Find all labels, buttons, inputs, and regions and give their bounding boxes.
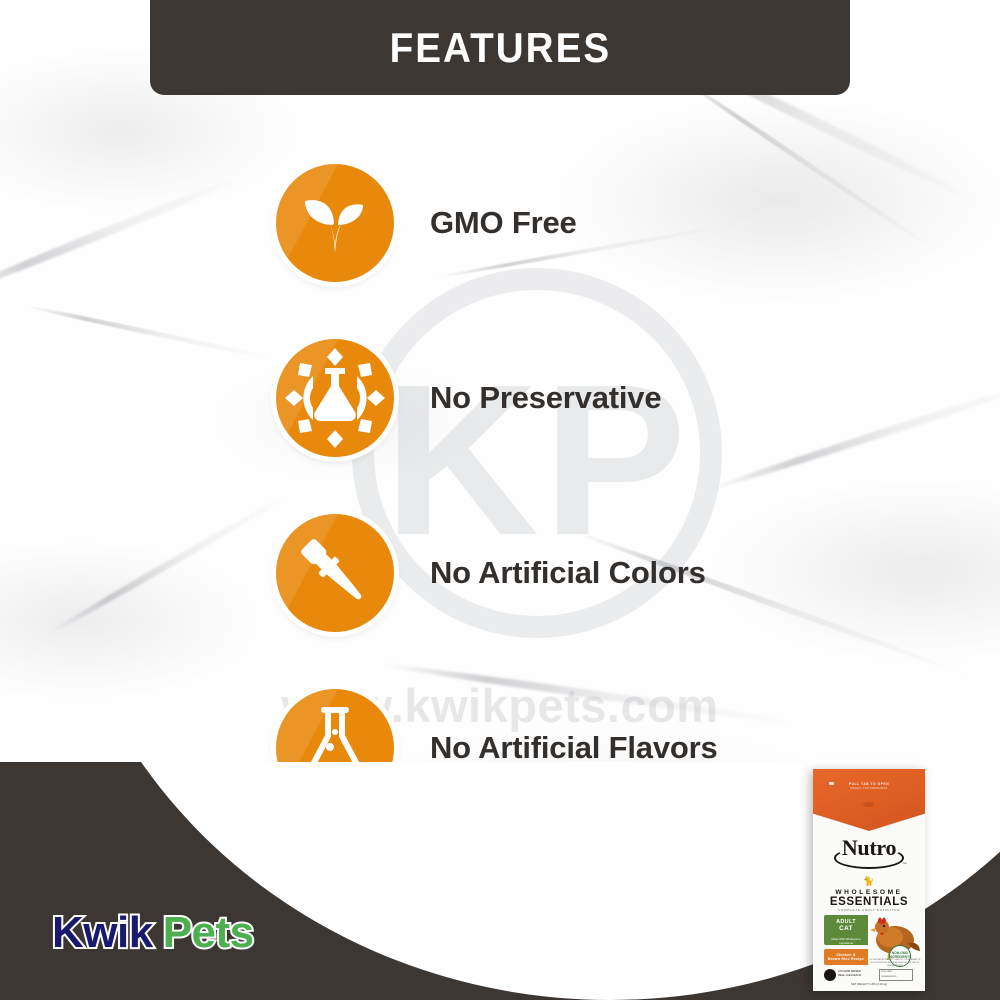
non-gmo-box: NON GMO INGREDIENTS	[879, 969, 913, 981]
recipe-line-2: Brown Rice Recipe	[824, 957, 868, 961]
bag-net-weight: NET WEIGHT 5 LBS (2.26 kg)	[813, 983, 925, 986]
kwik-pets-logo[interactable]: KwikPets	[52, 908, 254, 958]
bag-essentials-label: ESSENTIALS	[813, 896, 925, 908]
bag-hang-hole	[863, 802, 874, 807]
band-cat-label: CAT	[824, 925, 868, 932]
bag-fine-print: NO CHICKEN BY-PRODUCT MEAL NO CORN, WHEA…	[869, 959, 921, 968]
feature-item-no-preservative: No Preservative	[276, 339, 661, 457]
band-desc-label: Made With Wholesome Ingredients	[824, 937, 868, 945]
sprout-leaf-icon	[276, 164, 394, 282]
feature-label: No Artificial Flavors	[430, 730, 718, 766]
no-preservative-flask-icon	[276, 339, 394, 457]
feature-label: GMO Free	[430, 205, 577, 241]
quality-badge-icon	[824, 969, 836, 981]
bag-tear-label: PULL TAB TO OPEN	[813, 782, 925, 786]
product-bag-image[interactable]: PULL TAB TO OPEN RESEAL FOR FRESHNESS Nu…	[813, 769, 925, 991]
cat-silhouette-icon: 🐈	[813, 877, 925, 886]
header-banner: FEATURES	[150, 0, 850, 95]
recipe-band: Chicken & Brown Rice Recipe	[824, 949, 868, 965]
dropper-pipette-icon	[276, 514, 394, 632]
badge-line-2: REAL CHICKEN #1	[838, 974, 862, 978]
feature-label: No Preservative	[430, 380, 661, 416]
bag-brand-swoosh-icon	[834, 847, 904, 869]
feature-label: No Artificial Colors	[430, 555, 706, 591]
feature-infographic-page: FEATURES KP www.kwikpets.com GMO Free	[0, 0, 1000, 1000]
bag-top-panel	[813, 769, 925, 831]
feature-item-no-artificial-colors: No Artificial Colors	[276, 514, 706, 632]
logo-kwik-text: Kwik	[52, 908, 153, 957]
logo-pets-text: Pets	[163, 908, 254, 957]
page-title: FEATURES	[389, 24, 611, 72]
box-line-2: INGREDIENTS	[880, 975, 912, 980]
bag-trademark: ™	[903, 862, 907, 866]
adult-cat-band: ADULT CAT Made With Wholesome Ingredient…	[824, 915, 868, 945]
bag-tear-sublabel: RESEAL FOR FRESHNESS	[813, 787, 925, 790]
feature-item-gmo-free: GMO Free	[276, 164, 577, 282]
bag-wholesome-label: WHOLESOME	[813, 889, 925, 896]
bag-tagline: COMPLETE ADULT NUTRITION	[813, 908, 925, 912]
quality-badge-text: US FARM RAISED REAL CHICKEN #1	[838, 970, 862, 978]
